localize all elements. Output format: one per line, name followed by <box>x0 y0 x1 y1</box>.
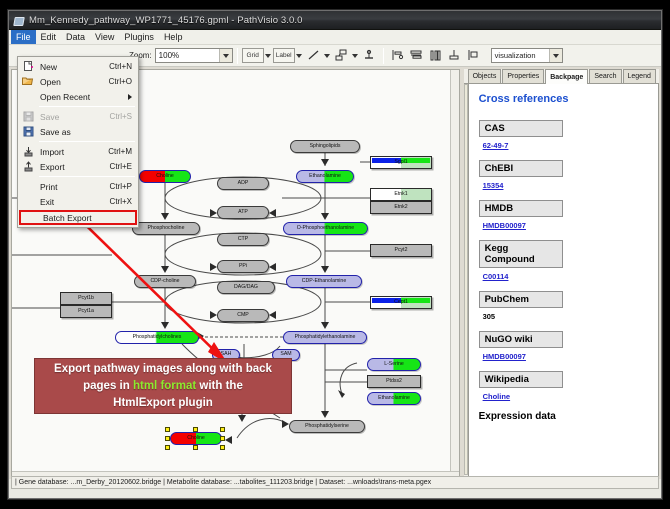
gene-label: Etnk1 <box>394 192 407 197</box>
file-menu-accel-exit: Ctrl+X <box>110 197 138 206</box>
save-as-icon <box>20 125 36 138</box>
file-menu-accel-save: Ctrl+S <box>110 112 138 121</box>
file-menu-label-exit: Exit <box>40 197 110 207</box>
file-menu-label-print: Print <box>40 182 110 192</box>
window-title: Mm_Kennedy_pathway_WP1771_45176.gpml - P… <box>29 15 303 26</box>
file-menu-dropdown[interactable]: New Ctrl+N Open Ctrl+O Open Recent <box>17 56 139 228</box>
file-menu-label-save: Save <box>40 112 110 122</box>
new-file-icon <box>20 60 36 73</box>
pathway-node-adp[interactable]: ADP <box>217 177 269 190</box>
file-menu-label-export: Export <box>40 162 110 172</box>
xref-value-hmdb[interactable]: HMDB00097 <box>483 221 648 230</box>
pathvisio-app-icon <box>13 15 24 26</box>
visualization-value: visualization <box>495 51 549 60</box>
gene-label: Etnk2 <box>394 205 407 210</box>
pathway-node-l-serine[interactable]: L-Serine <box>367 358 421 371</box>
file-menu-item-save: Save Ctrl+S <box>18 109 138 124</box>
xref-value-chebi[interactable]: 15354 <box>483 181 648 190</box>
tab-backpage[interactable]: Backpage <box>545 69 588 84</box>
menu-help[interactable]: Help <box>159 30 188 44</box>
file-menu-item-exit[interactable]: Exit Ctrl+X <box>18 194 138 209</box>
side-panel-tabstrip: Objects Properties Backpage Search Legen… <box>464 69 659 84</box>
file-menu-accel-open: Ctrl+O <box>109 77 138 86</box>
file-menu-accel-print: Ctrl+P <box>110 182 138 191</box>
backpage-heading: Cross references <box>479 93 648 105</box>
file-menu-label-batch-export: Batch Export <box>43 213 135 223</box>
gene-label: Pcyt2 <box>395 248 408 253</box>
screenshot-root: Mm_Kennedy_pathway_WP1771_45176.gpml - P… <box>0 0 670 509</box>
file-menu-item-export[interactable]: Export Ctrl+E <box>18 159 138 174</box>
annotation-line-2-pre: pages in <box>83 380 133 392</box>
menubar: File Edit Data View Plugins Help <box>9 30 661 45</box>
xref-name-hmdb: HMDB <box>479 200 563 217</box>
backpage-content: Cross references CAS 62-49-7 ChEBI 15354… <box>468 84 659 477</box>
file-menu-item-open-recent[interactable]: Open Recent <box>18 89 138 104</box>
anchor-icon[interactable] <box>361 47 378 64</box>
align-center-icon[interactable] <box>408 47 425 64</box>
xref-name-nugo: NuGO wiki <box>479 331 563 348</box>
window-titlebar: Mm_Kennedy_pathway_WP1771_45176.gpml - P… <box>9 11 661 30</box>
file-menu-label-open: Open <box>40 77 109 87</box>
annotation-line-2-post: with the <box>196 380 243 392</box>
shape-icon[interactable] <box>333 47 350 64</box>
align-left-icon[interactable] <box>389 47 406 64</box>
canvas-vertical-scrollbar[interactable] <box>450 70 459 480</box>
statusbar-text: | Gene database: ...m_Derby_20120602.bri… <box>15 479 431 486</box>
tab-objects[interactable]: Objects <box>468 69 502 83</box>
annotation-line-3: HtmlExport plugin <box>113 397 213 409</box>
open-folder-icon <box>20 75 36 88</box>
file-menu-item-import[interactable]: Import Ctrl+M <box>18 144 138 159</box>
group-icon[interactable] <box>465 47 482 64</box>
blank-icon <box>20 90 36 103</box>
xref-name-pubchem: PubChem <box>479 291 563 308</box>
xref-link-nugo[interactable]: HMDB00097 <box>483 352 526 361</box>
xref-name-wikipedia: Wikipedia <box>479 371 563 388</box>
pathway-node-ethanolamine-2[interactable]: Ethanolamine <box>367 392 421 405</box>
file-menu-label-import: Import <box>40 147 108 157</box>
xref-value-wikipedia[interactable]: Choline <box>483 392 648 401</box>
export-icon <box>20 160 36 173</box>
import-icon <box>20 145 36 158</box>
file-menu-accel-new: Ctrl+N <box>109 62 138 71</box>
pathway-gene-sgpl1[interactable]: Sgpl1 <box>370 156 432 169</box>
pathway-gene-cept1[interactable]: Cept1 <box>370 296 432 309</box>
xref-link-chebi[interactable]: 15354 <box>483 181 504 190</box>
chevron-down-icon[interactable] <box>219 49 232 62</box>
xref-value-kegg[interactable]: C00114 <box>483 272 648 281</box>
pathway-gene-pcyt2[interactable]: Pcyt2 <box>370 244 432 257</box>
xref-value-pubchem: 305 <box>483 312 648 321</box>
tab-properties[interactable]: Properties <box>502 69 544 83</box>
side-panel: Objects Properties Backpage Search Legen… <box>464 69 659 477</box>
file-menu-accel-export: Ctrl+E <box>110 162 138 171</box>
line-dropdown-icon[interactable] <box>323 47 332 64</box>
toolbar-separator-2 <box>383 48 384 64</box>
xref-value-cas[interactable]: 62-49-7 <box>483 141 648 150</box>
xref-link-hmdb[interactable]: HMDB00097 <box>483 221 526 230</box>
file-menu-label-new: New <box>40 62 109 72</box>
file-menu-separator-2 <box>39 141 135 142</box>
menu-file[interactable]: File <box>11 30 36 44</box>
file-menu-item-new[interactable]: New Ctrl+N <box>18 59 138 74</box>
menu-edit[interactable]: Edit <box>36 30 62 44</box>
grid-icon[interactable]: Grid <box>242 48 264 63</box>
label-dropdown-icon[interactable] <box>295 47 304 64</box>
xref-name-cas: CAS <box>479 120 563 137</box>
statusbar: | Gene database: ...m_Derby_20120602.bri… <box>11 476 659 489</box>
file-menu-item-open[interactable]: Open Ctrl+O <box>18 74 138 89</box>
grid-dropdown-icon[interactable] <box>264 47 273 64</box>
xref-name-chebi: ChEBI <box>479 160 563 177</box>
zoom-value: 100% <box>159 51 219 60</box>
zoom-combo[interactable]: 100% <box>155 48 233 63</box>
annotation-line-1: Export pathway images along with back <box>54 363 272 375</box>
annotation-banner: Export pathway images along with back pa… <box>34 358 292 414</box>
xref-link-wikipedia[interactable]: Choline <box>483 392 511 401</box>
expression-data-heading: Expression data <box>479 411 648 422</box>
file-menu-item-save-as[interactable]: Save as <box>18 124 138 139</box>
shape-dropdown-icon[interactable] <box>351 47 360 64</box>
toolbar-separator <box>237 48 238 64</box>
pathway-node-ethanolamine[interactable]: Ethanolamine <box>296 170 354 183</box>
gene-label: Ptdss2 <box>386 379 402 384</box>
xref-value-nugo[interactable]: HMDB00097 <box>483 352 648 361</box>
pathway-node-choline[interactable]: Choline <box>139 170 191 183</box>
menu-view[interactable]: View <box>90 30 119 44</box>
save-disk-icon <box>20 110 36 123</box>
file-menu-separator-1 <box>39 106 135 107</box>
file-menu-item-print[interactable]: Print Ctrl+P <box>18 179 138 194</box>
blank-icon <box>20 195 36 208</box>
pathway-gene-etnk1[interactable]: Etnk1 <box>370 188 432 201</box>
xref-link-cas[interactable]: 62-49-7 <box>483 141 509 150</box>
xref-link-kegg[interactable]: C00114 <box>483 272 509 281</box>
tab-search[interactable]: Search <box>589 69 621 83</box>
pathway-node-sphingolipids[interactable]: Sphingolipids <box>290 140 360 153</box>
visualization-chevron-down-icon[interactable] <box>549 49 562 62</box>
gene-label: Sgpl1 <box>394 160 407 165</box>
visualization-combo[interactable]: visualization <box>491 48 563 63</box>
xref-name-kegg: Kegg Compound <box>479 240 563 268</box>
file-menu-item-batch-export[interactable]: Batch Export <box>19 210 137 225</box>
label-icon[interactable]: Label <box>273 48 295 63</box>
gene-label: Cept1 <box>394 300 408 305</box>
blank-icon <box>23 211 39 224</box>
menu-plugins[interactable]: Plugins <box>119 30 159 44</box>
distribute-icon[interactable] <box>427 47 444 64</box>
menu-data[interactable]: Data <box>61 30 90 44</box>
tab-legend[interactable]: Legend <box>623 69 656 83</box>
annotation-line-2-highlight: html format <box>133 380 196 392</box>
file-menu-label-save-as: Save as <box>40 127 132 137</box>
file-menu-label-open-recent: Open Recent <box>40 92 128 102</box>
annotation-arrow-icon <box>52 200 302 460</box>
pathway-gene-ptdss2[interactable]: Ptdss2 <box>367 375 421 388</box>
pathway-gene-etnk2[interactable]: Etnk2 <box>370 201 432 214</box>
line-icon[interactable] <box>305 47 322 64</box>
application-window: Mm_Kennedy_pathway_WP1771_45176.gpml - P… <box>8 10 662 499</box>
file-menu-accel-import: Ctrl+M <box>108 147 138 156</box>
file-menu-separator-3 <box>39 176 135 177</box>
stack-icon[interactable] <box>446 47 463 64</box>
submenu-arrow-icon <box>128 94 132 100</box>
blank-icon <box>20 180 36 193</box>
